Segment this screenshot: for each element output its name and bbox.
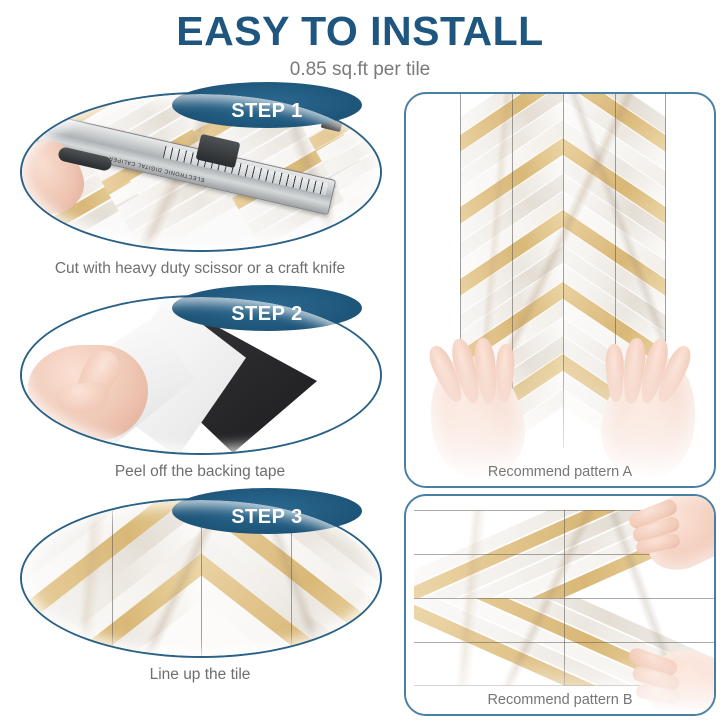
pattern-b-panel: Recommend pattern B <box>404 494 716 716</box>
step-1-caption: Cut with heavy duty scissor or a craft k… <box>0 258 400 280</box>
grout-line <box>112 500 113 656</box>
pattern-a-label: Recommend pattern A <box>406 464 714 480</box>
steps-column: ELECTRONIC DIGITAL CALIPER STEP 1 Cut wi… <box>0 92 400 720</box>
page-header: EASY TO INSTALL 0.85 sq.ft per tile <box>0 0 720 88</box>
page-subtitle: 0.85 sq.ft per tile <box>0 58 720 82</box>
pattern-a-panel: Recommend pattern A <box>404 92 716 488</box>
pattern-b-label: Recommend pattern B <box>406 692 714 708</box>
step-1-badge: STEP 1 <box>172 82 362 128</box>
step-3-caption: Line up the tile <box>0 664 400 686</box>
step-2-caption: Peel off the backing tape <box>0 461 400 483</box>
page-title: EASY TO INSTALL <box>0 8 720 54</box>
step-2-badge: STEP 2 <box>172 285 362 331</box>
grout-line-vertical <box>564 510 565 686</box>
grout-line <box>563 92 564 448</box>
infographic-page: EASY TO INSTALL 0.85 sq.ft per tile <box>0 0 720 720</box>
step-3-badge: STEP 3 <box>172 488 362 534</box>
